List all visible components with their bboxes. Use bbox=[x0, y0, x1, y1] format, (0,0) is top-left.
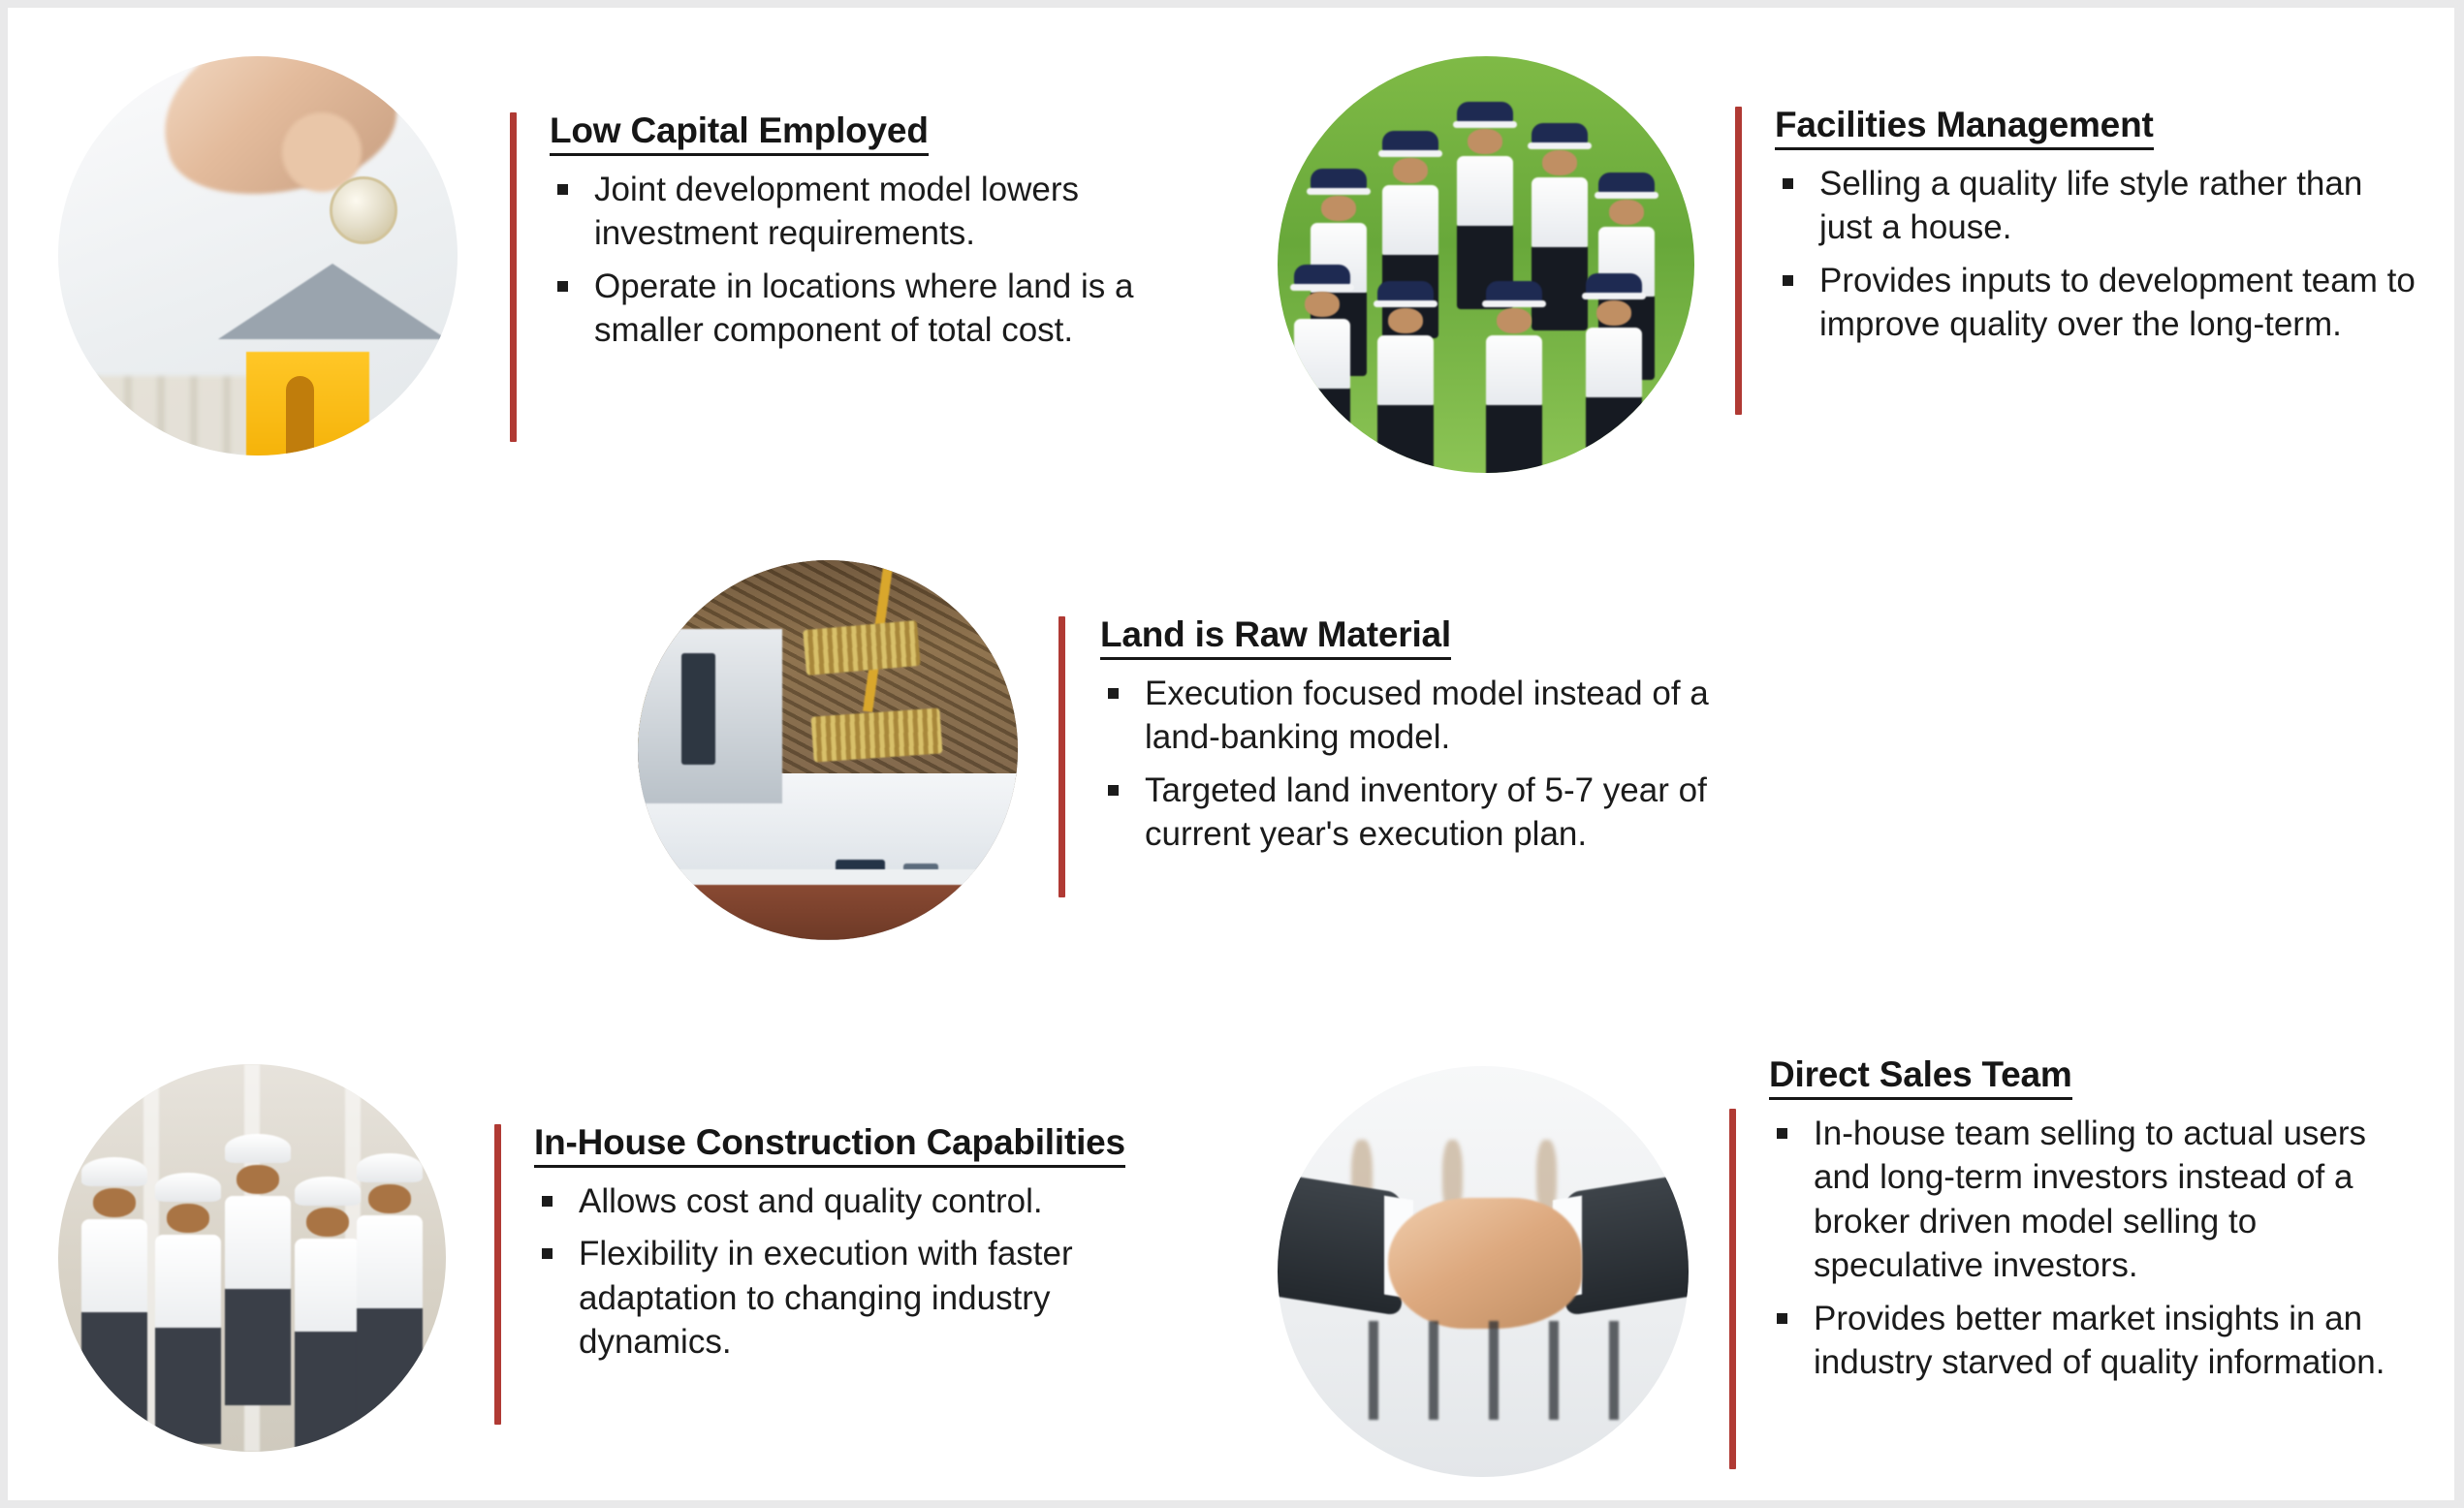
content-facilities-management: Facilities Management Selling a quality … bbox=[1775, 107, 2421, 347]
bullet-list-land-is-raw-material: Execution focused model instead of a lan… bbox=[1100, 672, 1740, 857]
content-land-is-raw-material: Land is Raw Material Execution focused m… bbox=[1100, 616, 1801, 857]
list-item: Targeted land inventory of 5-7 year of c… bbox=[1100, 769, 1740, 857]
list-item: In-house team selling to actual users an… bbox=[1769, 1112, 2431, 1288]
list-item: Execution focused model instead of a lan… bbox=[1100, 672, 1740, 760]
card-title-low-capital-employed: Low Capital Employed bbox=[550, 112, 929, 156]
card-in-house-construction-capabilities: In-House Construction Capabilities Allow… bbox=[58, 1064, 1212, 1452]
content-low-capital-employed: Low Capital Employed Joint development m… bbox=[550, 112, 1202, 353]
content-in-house-construction-capabilities: In-House Construction Capabilities Allow… bbox=[534, 1124, 1212, 1365]
image-direct-sales-team bbox=[1278, 1066, 1689, 1477]
content-direct-sales-team: Direct Sales Team In-house team selling … bbox=[1769, 1056, 2431, 1385]
facilities-team-photo bbox=[1278, 56, 1694, 473]
coin-house-photo bbox=[58, 56, 458, 456]
handshake-photo bbox=[1278, 1066, 1689, 1477]
rebar-lab-photo bbox=[638, 560, 1018, 940]
image-facilities-management bbox=[1278, 56, 1694, 473]
bullet-list-facilities-management: Selling a quality life style rather than… bbox=[1775, 162, 2421, 347]
card-title-land-is-raw-material: Land is Raw Material bbox=[1100, 616, 1451, 660]
list-item: Allows cost and quality control. bbox=[534, 1179, 1193, 1224]
bullet-list-direct-sales-team: In-house team selling to actual users an… bbox=[1769, 1112, 2431, 1385]
card-low-capital-employed: Low Capital Employed Joint development m… bbox=[58, 56, 1202, 456]
list-item: Provides inputs to development team to i… bbox=[1775, 259, 2421, 347]
accent-bar-low-capital-employed bbox=[510, 112, 517, 442]
card-title-facilities-management: Facilities Management bbox=[1775, 107, 2154, 150]
list-item: Operate in locations where land is a sma… bbox=[550, 265, 1202, 353]
accent-bar-direct-sales-team bbox=[1729, 1109, 1736, 1469]
accent-bar-land-is-raw-material bbox=[1058, 616, 1065, 897]
list-item: Selling a quality life style rather than… bbox=[1775, 162, 2421, 250]
image-in-house-construction-capabilities bbox=[58, 1064, 446, 1452]
image-low-capital-employed bbox=[58, 56, 458, 456]
list-item: Flexibility in execution with faster ada… bbox=[534, 1232, 1193, 1365]
image-land-is-raw-material bbox=[638, 560, 1018, 940]
card-facilities-management: Facilities Management Selling a quality … bbox=[1278, 56, 2421, 473]
bullet-list-low-capital-employed: Joint development model lowers investmen… bbox=[550, 168, 1202, 353]
accent-bar-in-house-construction-capabilities bbox=[494, 1124, 501, 1425]
list-item: Joint development model lowers investmen… bbox=[550, 168, 1202, 256]
accent-bar-facilities-management bbox=[1735, 107, 1742, 415]
bullet-list-in-house-construction-capabilities: Allows cost and quality control. Flexibi… bbox=[534, 1179, 1193, 1365]
card-title-in-house-construction-capabilities: In-House Construction Capabilities bbox=[534, 1124, 1125, 1168]
construction-team-photo bbox=[58, 1064, 446, 1452]
card-direct-sales-team: Direct Sales Team In-house team selling … bbox=[1278, 1056, 2431, 1477]
card-title-direct-sales-team: Direct Sales Team bbox=[1769, 1056, 2072, 1100]
slide-canvas: Low Capital Employed Joint development m… bbox=[8, 8, 2454, 1500]
card-land-is-raw-material: Land is Raw Material Execution focused m… bbox=[638, 560, 1801, 940]
list-item: Provides better market insights in an in… bbox=[1769, 1297, 2431, 1385]
